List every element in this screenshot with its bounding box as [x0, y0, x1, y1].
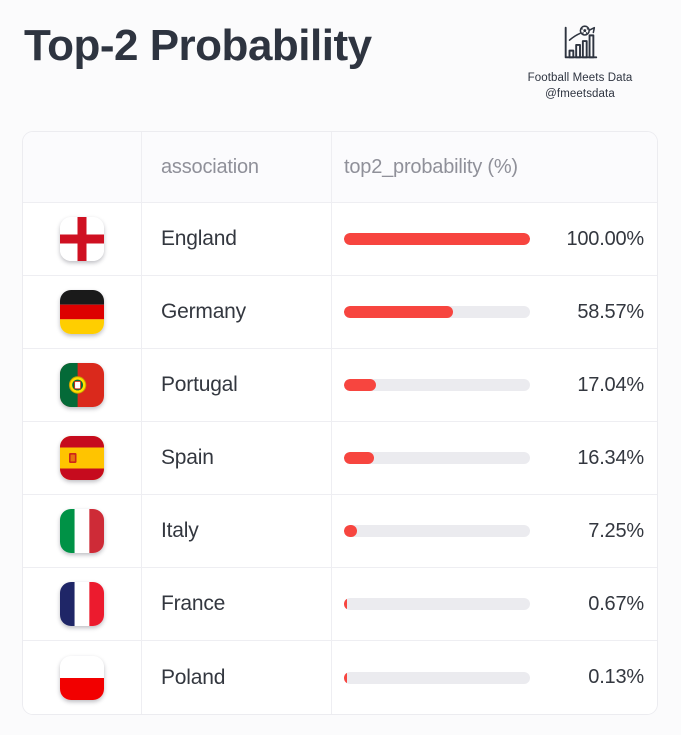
bar-chart-football-logo-icon — [559, 22, 601, 64]
flag-poland-icon — [60, 656, 104, 700]
association-label: France — [161, 592, 225, 616]
table-row: Poland0.13% — [23, 641, 657, 714]
page-header: Top-2 Probability — [0, 0, 681, 118]
association-label: Italy — [161, 519, 199, 543]
row-association-cell: Poland — [142, 641, 332, 714]
table-row: England100.00% — [23, 203, 657, 276]
page-title: Top-2 Probability — [24, 0, 372, 69]
row-probability-cell: 58.57% — [332, 276, 657, 348]
probability-bar-track — [344, 306, 530, 318]
probability-table: association top2_probability (%) England… — [22, 131, 658, 715]
probability-value: 16.34% — [530, 447, 644, 470]
row-probability-cell: 7.25% — [332, 495, 657, 567]
flag-france-icon — [60, 582, 104, 626]
row-probability-cell: 17.04% — [332, 349, 657, 421]
table-row: Germany58.57% — [23, 276, 657, 349]
column-header-probability-label: top2_probability (%) — [344, 156, 518, 179]
table-row: Italy7.25% — [23, 495, 657, 568]
row-probability-cell: 100.00% — [332, 203, 657, 275]
probability-bar-fill — [344, 306, 453, 318]
probability-table-page: Top-2 Probability — [0, 0, 681, 735]
probability-value: 7.25% — [530, 520, 644, 543]
row-association-cell: Spain — [142, 422, 332, 494]
probability-bar-fill — [344, 233, 530, 245]
row-probability-cell: 0.13% — [332, 641, 657, 714]
probability-bar-track — [344, 452, 530, 464]
column-header-association-label: association — [161, 156, 259, 179]
probability-value: 58.57% — [530, 301, 644, 324]
brand-block: Football Meets Data @fmeetsdata — [505, 0, 655, 102]
column-header-flag — [23, 132, 142, 202]
row-flag-cell — [23, 203, 142, 275]
row-flag-cell — [23, 495, 142, 567]
probability-bar-fill — [344, 525, 357, 537]
probability-bar-track — [344, 525, 530, 537]
flag-germany-icon — [60, 290, 104, 334]
probability-bar-track — [344, 598, 530, 610]
row-association-cell: Portugal — [142, 349, 332, 421]
row-flag-cell — [23, 349, 142, 421]
flag-england-icon — [60, 217, 104, 261]
probability-bar-fill — [344, 452, 374, 464]
brand-handle: @fmeetsdata — [545, 87, 615, 103]
probability-value: 0.13% — [530, 666, 644, 689]
row-flag-cell — [23, 422, 142, 494]
flag-spain-icon — [60, 436, 104, 480]
association-label: Germany — [161, 300, 246, 324]
table-row: Portugal17.04% — [23, 349, 657, 422]
table-row: France0.67% — [23, 568, 657, 641]
row-flag-cell — [23, 568, 142, 640]
association-label: Spain — [161, 446, 214, 470]
probability-bar-fill — [344, 598, 347, 610]
table-header-row: association top2_probability (%) — [23, 132, 657, 203]
row-association-cell: France — [142, 568, 332, 640]
flag-italy-icon — [60, 509, 104, 553]
probability-value: 100.00% — [530, 228, 644, 251]
flag-portugal-icon — [60, 363, 104, 407]
row-association-cell: Italy — [142, 495, 332, 567]
probability-bar-track — [344, 379, 530, 391]
row-association-cell: England — [142, 203, 332, 275]
probability-bar-fill — [344, 672, 347, 684]
probability-value: 17.04% — [530, 374, 644, 397]
association-label: Portugal — [161, 373, 238, 397]
row-probability-cell: 0.67% — [332, 568, 657, 640]
association-label: England — [161, 227, 237, 251]
row-association-cell: Germany — [142, 276, 332, 348]
probability-bar-fill — [344, 379, 376, 391]
probability-bar-track — [344, 672, 530, 684]
brand-name: Football Meets Data — [528, 71, 633, 87]
association-label: Poland — [161, 666, 225, 690]
row-probability-cell: 16.34% — [332, 422, 657, 494]
row-flag-cell — [23, 276, 142, 348]
probability-value: 0.67% — [530, 593, 644, 616]
row-flag-cell — [23, 641, 142, 714]
table-row: Spain16.34% — [23, 422, 657, 495]
column-header-probability: top2_probability (%) — [332, 132, 657, 202]
column-header-association: association — [142, 132, 332, 202]
probability-bar-track — [344, 233, 530, 245]
